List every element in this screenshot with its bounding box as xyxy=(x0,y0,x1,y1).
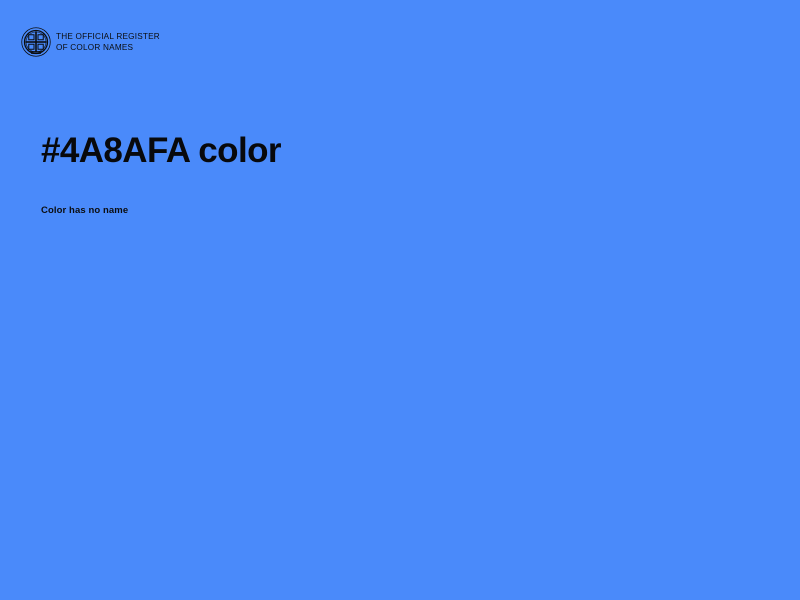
color-detail-page: THE OFFICIAL REGISTER OF COLOR NAMES #4A… xyxy=(0,0,800,600)
brand-line-2: OF COLOR NAMES xyxy=(56,43,160,54)
brand-line-1: THE OFFICIAL REGISTER xyxy=(56,32,160,43)
color-info: #4A8AFA color Color has no name xyxy=(41,130,741,217)
brand-wordmark: THE OFFICIAL REGISTER OF COLOR NAMES xyxy=(56,32,160,53)
official-register-seal-icon xyxy=(21,27,51,57)
page-title: #4A8AFA color xyxy=(41,130,741,172)
site-brand[interactable]: THE OFFICIAL REGISTER OF COLOR NAMES xyxy=(21,27,160,57)
color-name-status: Color has no name xyxy=(41,172,741,217)
